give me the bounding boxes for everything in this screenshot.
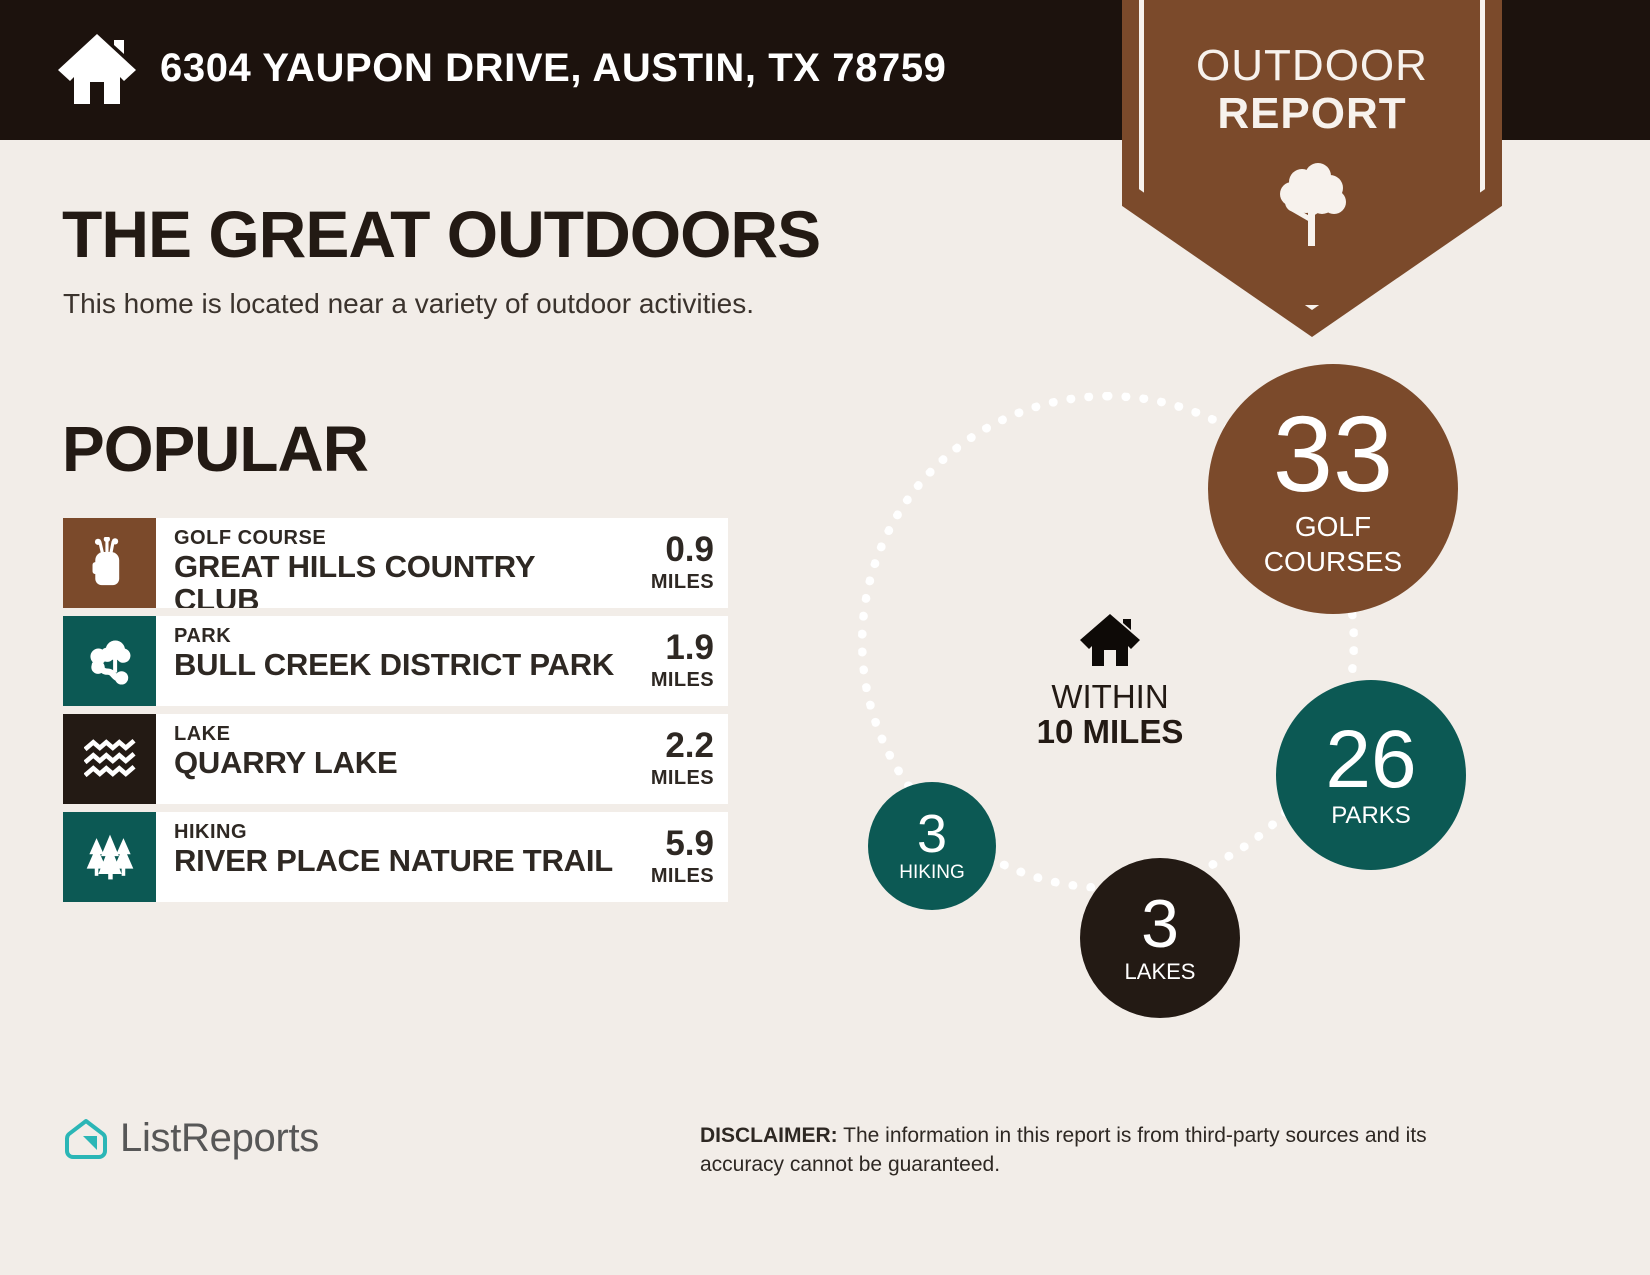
distance-value: 1.9 <box>665 630 714 665</box>
bubble-value: 3 <box>917 809 947 861</box>
bubble-hiking[interactable]: 3 HIKING <box>868 782 996 910</box>
badge-title-line1: OUTDOOR <box>1122 44 1502 89</box>
tree-icon <box>1272 160 1352 248</box>
list-item-name: RIVER PLACE NATURE TRAIL <box>174 845 628 878</box>
listreports-logo[interactable]: ListReports <box>64 1116 319 1161</box>
chart-center-label: WITHIN 10 MILES <box>1020 610 1200 749</box>
popular-list: GOLF COURSE GREAT HILLS COUNTRY CLUB 0.9… <box>63 518 728 910</box>
list-item-distance: 5.9 MILES <box>628 812 728 902</box>
bubble-label-line1: LAKES <box>1125 961 1196 984</box>
list-item-name: QUARRY LAKE <box>174 747 628 780</box>
list-item-name: GREAT HILLS COUNTRY CLUB <box>174 551 628 608</box>
list-item-category: HIKING <box>174 822 628 843</box>
bubble-parks[interactable]: 26 PARKS <box>1276 680 1466 870</box>
within-10-miles-bubble-chart: WITHIN 10 MILES 33 GOLF COURSES 26 PARKS… <box>840 372 1480 1012</box>
bubble-label-line2: COURSES <box>1264 547 1402 576</box>
list-item[interactable]: PARK BULL CREEK DISTRICT PARK 1.9 MILES <box>63 616 728 706</box>
bubble-value: 26 <box>1325 721 1416 800</box>
list-item-text: PARK BULL CREEK DISTRICT PARK <box>156 616 628 706</box>
page-subtitle: This home is located near a variety of o… <box>63 288 754 320</box>
listreports-wordmark: ListReports <box>120 1116 319 1161</box>
listreports-house-icon <box>64 1117 108 1161</box>
list-item[interactable]: LAKE QUARRY LAKE 2.2 MILES <box>63 714 728 804</box>
list-item-distance: 1.9 MILES <box>628 616 728 706</box>
distance-unit: MILES <box>651 767 714 790</box>
list-item[interactable]: HIKING RIVER PLACE NATURE TRAIL 5.9 MILE… <box>63 812 728 902</box>
park-trees-icon <box>63 616 156 706</box>
list-item-distance: 0.9 MILES <box>628 518 728 608</box>
center-line2: 10 MILES <box>1020 715 1200 750</box>
page-title: THE GREAT OUTDOORS <box>62 196 820 272</box>
disclaimer-label: DISCLAIMER: <box>700 1124 838 1147</box>
list-item-category: PARK <box>174 626 628 647</box>
center-line1: WITHIN <box>1020 680 1200 715</box>
bubble-label-line1: PARKS <box>1331 804 1411 829</box>
bubble-golf-courses[interactable]: 33 GOLF COURSES <box>1208 364 1458 614</box>
badge-title-line2: REPORT <box>1122 92 1502 137</box>
distance-value: 2.2 <box>665 728 714 763</box>
list-item-category: GOLF COURSE <box>174 528 628 549</box>
list-item-category: LAKE <box>174 724 628 745</box>
water-waves-icon <box>63 714 156 804</box>
distance-unit: MILES <box>651 669 714 692</box>
golf-bag-icon <box>63 518 156 608</box>
bubble-label-line1: HIKING <box>899 863 964 883</box>
list-item-name: BULL CREEK DISTRICT PARK <box>174 649 628 682</box>
pine-trees-icon <box>63 812 156 902</box>
distance-unit: MILES <box>651 865 714 888</box>
distance-value: 5.9 <box>665 826 714 861</box>
bubble-value: 33 <box>1273 402 1393 506</box>
bubble-value: 3 <box>1141 892 1179 957</box>
distance-unit: MILES <box>651 571 714 594</box>
popular-heading: POPULAR <box>62 412 368 486</box>
house-icon <box>1078 610 1142 668</box>
disclaimer: DISCLAIMER: The information in this repo… <box>700 1122 1512 1180</box>
property-address: 6304 YAUPON DRIVE, AUSTIN, TX 78759 <box>160 46 947 91</box>
distance-value: 0.9 <box>665 532 714 567</box>
list-item[interactable]: GOLF COURSE GREAT HILLS COUNTRY CLUB 0.9… <box>63 518 728 608</box>
list-item-text: GOLF COURSE GREAT HILLS COUNTRY CLUB <box>156 518 628 608</box>
bubble-lakes[interactable]: 3 LAKES <box>1080 858 1240 1018</box>
list-item-distance: 2.2 MILES <box>628 714 728 804</box>
bubble-label-line1: GOLF <box>1295 512 1371 541</box>
list-item-text: HIKING RIVER PLACE NATURE TRAIL <box>156 812 628 902</box>
list-item-text: LAKE QUARRY LAKE <box>156 714 628 804</box>
house-icon <box>56 28 138 110</box>
